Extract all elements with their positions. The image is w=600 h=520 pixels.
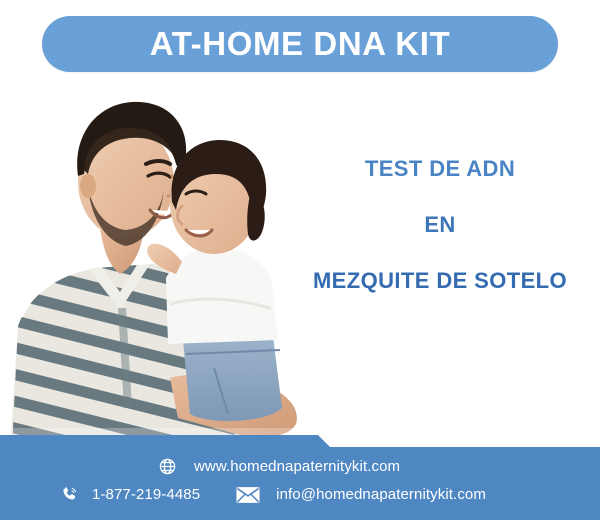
banner-pill: AT-HOME DNA KIT [42, 16, 558, 72]
footer-email-text[interactable]: info@homednapaternitykit.com [276, 486, 486, 503]
footer-website-row: www.homednapaternitykit.com [158, 457, 400, 476]
headline-line-1: TEST DE ADN [290, 158, 590, 180]
headline-block: TEST DE ADN EN MEZQUITE DE SOTELO [290, 158, 590, 292]
footer-website-text[interactable]: www.homednapaternitykit.com [194, 458, 400, 475]
banner-title: AT-HOME DNA KIT [150, 25, 450, 63]
footer-contact-row: 1-877-219-4485 info@homednapaternitykit.… [60, 485, 486, 504]
footer-phone-text[interactable]: 1-877-219-4485 [92, 486, 200, 503]
family-photo [0, 78, 330, 450]
globe-icon [158, 457, 177, 476]
footer-bar: www.homednapaternitykit.com 1-877-219-44… [0, 435, 600, 520]
envelope-icon [236, 486, 260, 504]
headline-line-3: MEZQUITE DE SOTELO [290, 270, 590, 292]
headline-line-2: EN [290, 214, 590, 236]
phone-icon [60, 485, 79, 504]
photo-illustration [0, 78, 330, 450]
poster-canvas: AT-HOME DNA KIT [0, 0, 600, 520]
